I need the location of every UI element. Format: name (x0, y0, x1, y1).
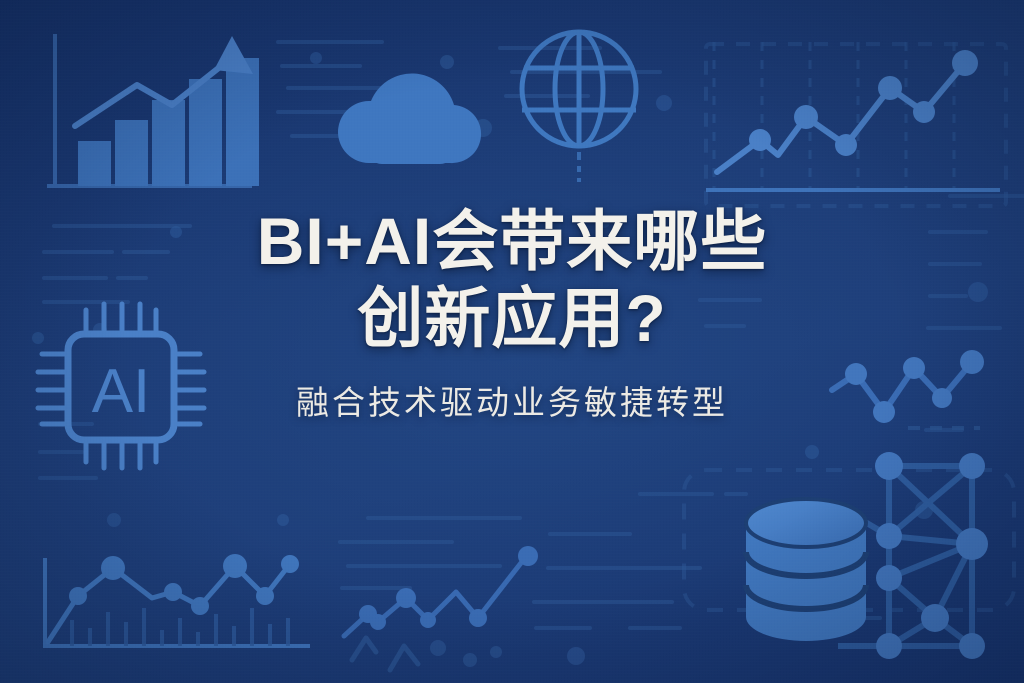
subtitle: 融合技术驱动业务敏捷转型 (0, 376, 1024, 424)
banner-canvas: AI (0, 0, 1024, 683)
title-line-2: 创新应用? (0, 282, 1024, 355)
title-line-1: BI+AI会带来哪些 (0, 205, 1024, 278)
headline-block: BI+AI会带来哪些 创新应用? 融合技术驱动业务敏捷转型 (0, 205, 1024, 424)
